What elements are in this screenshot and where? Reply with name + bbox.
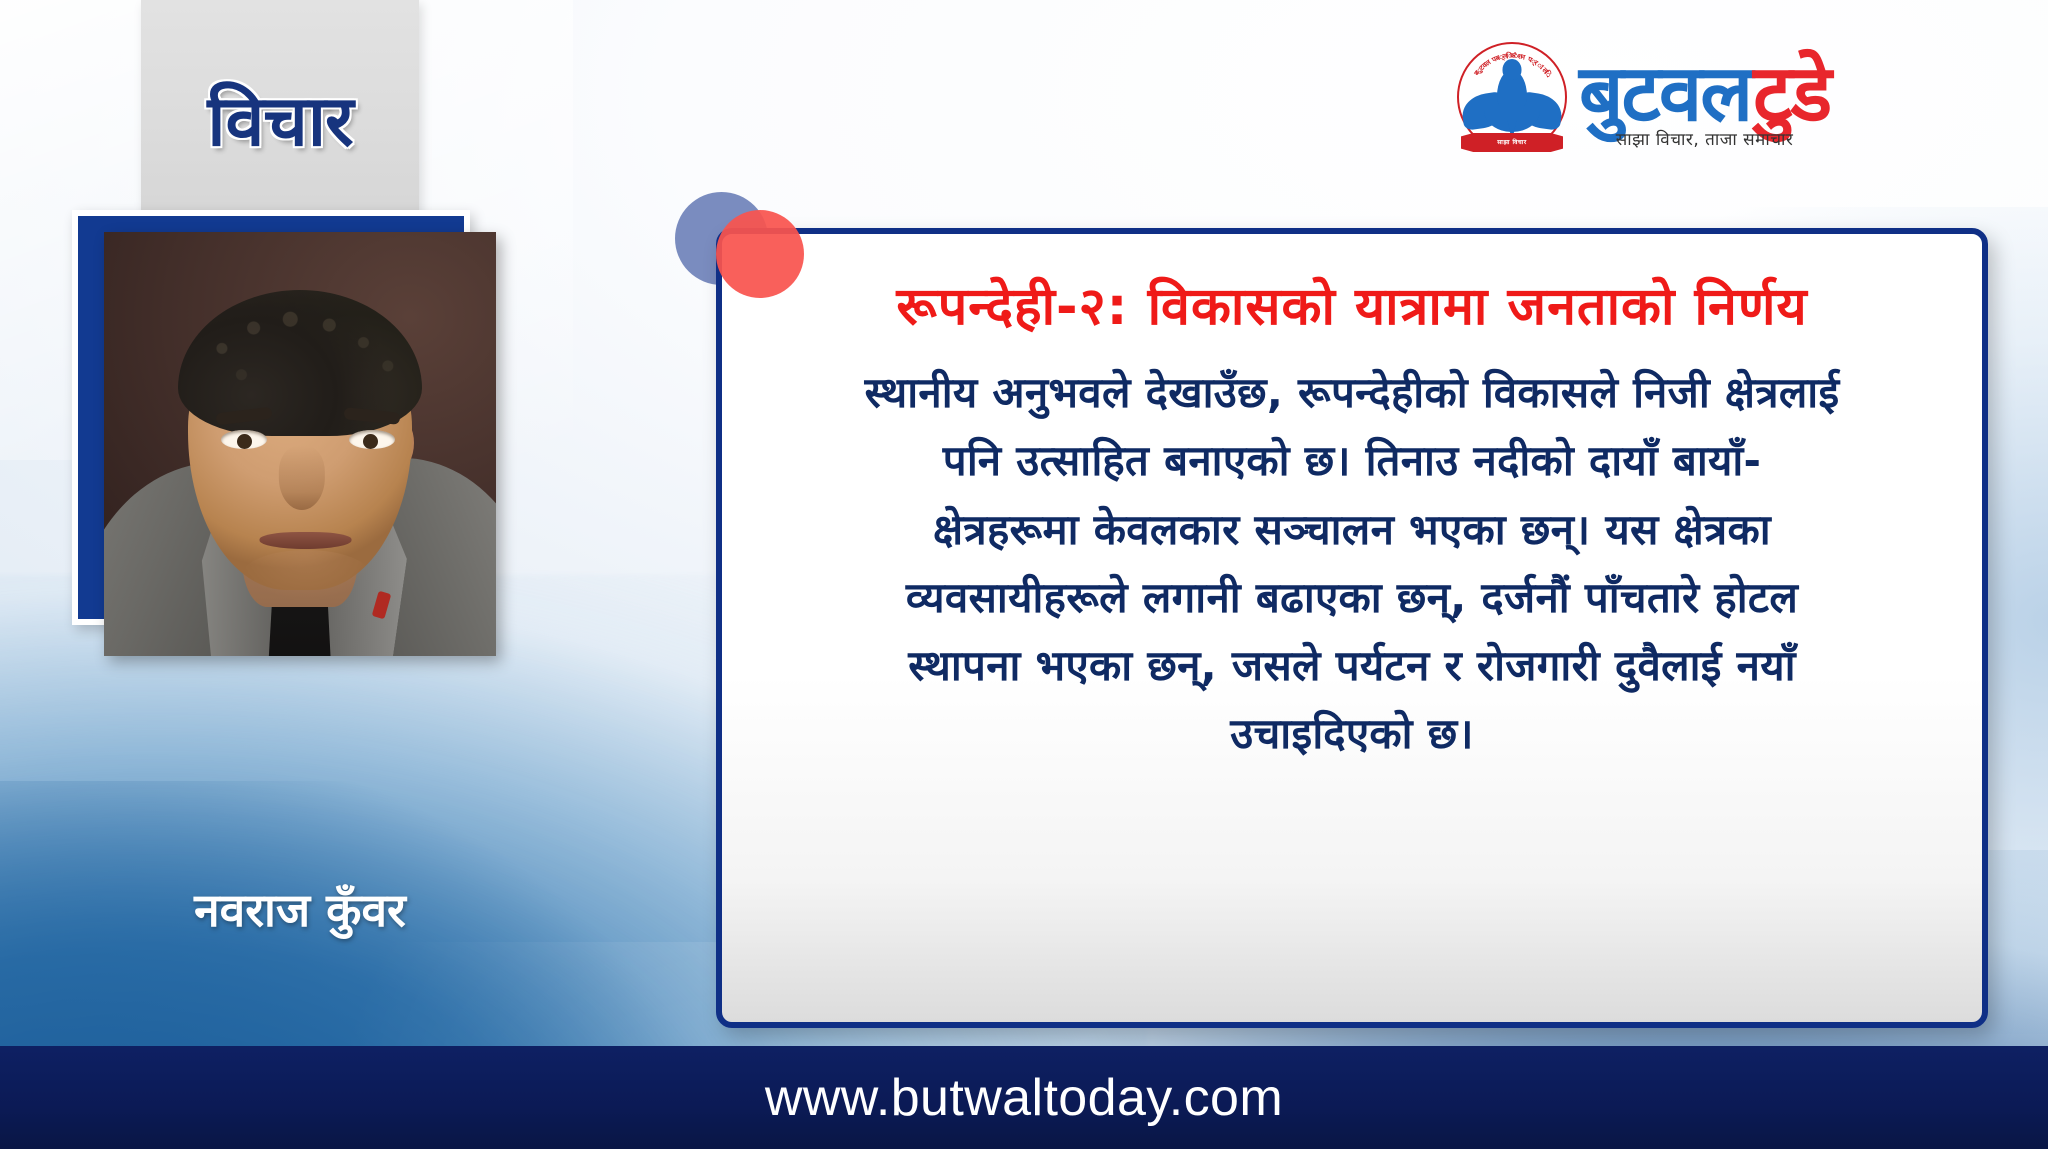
author-name: नवराज कुँवर: [0, 878, 600, 940]
footer-bar: www.butwaltoday.com: [0, 1046, 2048, 1149]
photo-pupil-right: [363, 434, 378, 449]
seal-ribbon: साझा विचार: [1461, 133, 1563, 152]
article-paragraph-line: व्यवसायीहरूले लगानी बढाएका छन्, दर्जनौं …: [760, 564, 1944, 632]
article-body: स्थानीय अनुभवले देखाउँछ, रूपन्देहीको विक…: [760, 359, 1944, 767]
article-title: रूपन्देही-२: विकासको यात्रामा जनताको निर…: [896, 276, 1807, 339]
section-label-text: विचार: [141, 86, 419, 156]
publisher-seal-icon: बुटवल पब्लिकेशन प्रा.लि. साझा विचार: [1455, 40, 1569, 154]
article-paragraph-line: पनि उत्साहित बनाएको छ। तिनाउ नदीको दायाँ…: [760, 427, 1944, 495]
article-paragraph-line: स्थानीय अनुभवले देखाउँछ, रूपन्देहीको विक…: [760, 359, 1944, 427]
seal-arc-glyph: न: [1520, 53, 1526, 63]
photo-mouth: [260, 532, 352, 549]
footer-website-url: www.butwaltoday.com: [765, 1068, 1283, 1128]
article-paragraph-line: स्थापना भएका छन्, जसले पर्यटन र रोजगारी …: [760, 632, 1944, 700]
author-photo: [104, 232, 496, 656]
brand-tagline: साझा विचार, ताजा समाचार: [1579, 127, 1830, 150]
brand-wordmark: बुटवलटुडे साझा विचार, ताजा समाचार: [1579, 57, 1830, 154]
photo-pupil-left: [237, 434, 252, 449]
photo-chin: [242, 550, 370, 600]
article-paragraph-line: उचाइदिएको छ।: [760, 700, 1944, 768]
article-card: रूपन्देही-२: विकासको यात्रामा जनताको निर…: [716, 228, 1988, 1028]
brand-word-butwal: बुटवल: [1579, 49, 1751, 139]
brand-wordmark-line: बुटवलटुडे: [1579, 57, 1830, 131]
photo-nose: [279, 446, 325, 510]
article-paragraph-line: क्षेत्रहरूमा केवलकार सञ्चालन भएका छन्। य…: [760, 496, 1944, 564]
brand-logo: बुटवल पब्लिकेशन प्रा.लि. साझा विचार बुटव…: [1455, 30, 2015, 154]
decor-circle-red: [716, 210, 804, 298]
brand-word-today: टुडे: [1753, 49, 1830, 139]
